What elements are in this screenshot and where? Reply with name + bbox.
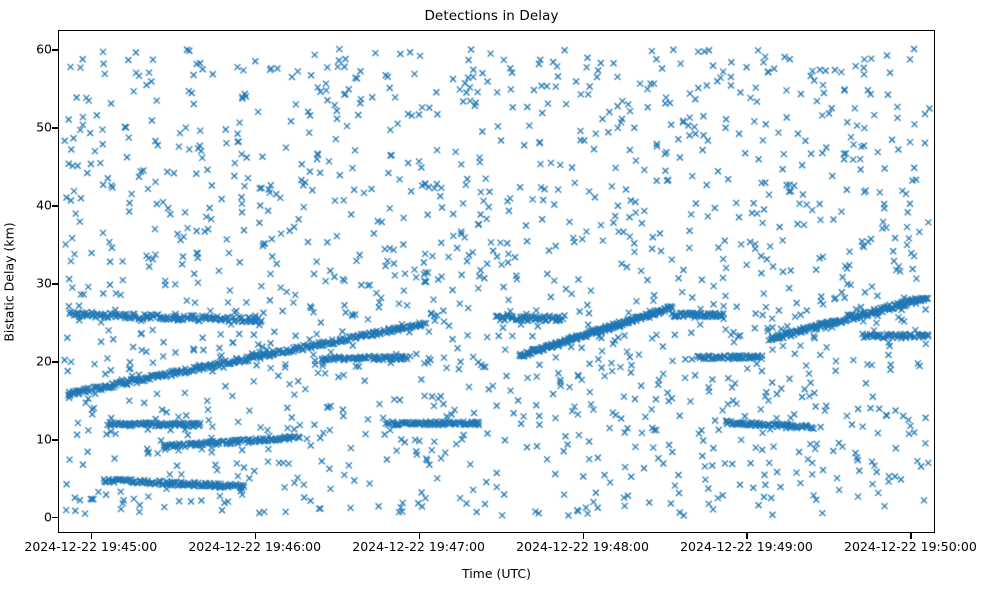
x-tick-mark [583, 533, 584, 539]
x-tick-label: 2024-12-22 19:49:00 [680, 539, 813, 554]
y-tick-label: 40 [8, 198, 52, 213]
x-tick-label: 2024-12-22 19:48:00 [516, 539, 649, 554]
page-title: Detections in Delay [0, 8, 983, 24]
x-tick-label: 2024-12-22 19:50:00 [844, 539, 977, 554]
x-tick-mark [910, 533, 911, 539]
plot-area [58, 30, 935, 533]
x-tick-mark [419, 533, 420, 539]
y-tick-label: 50 [8, 120, 52, 135]
y-axis-ticks: 0102030405060 [0, 0, 52, 590]
x-tick-mark [91, 533, 92, 539]
y-tick-label: 0 [8, 510, 52, 525]
x-tick-label: 2024-12-22 19:47:00 [352, 539, 485, 554]
figure-canvas: Detections in Delay Bistatic Delay (km) … [0, 0, 983, 590]
x-axis-label: Time (UTC) [58, 566, 935, 581]
x-tick-mark [255, 533, 256, 539]
x-tick-mark [746, 533, 747, 539]
y-tick-label: 30 [8, 276, 52, 291]
y-tick-label: 20 [8, 354, 52, 369]
y-tick-label: 60 [8, 42, 52, 57]
x-tick-label: 2024-12-22 19:45:00 [24, 539, 157, 554]
scatter-plot-canvas [59, 31, 935, 533]
x-tick-label: 2024-12-22 19:46:00 [188, 539, 321, 554]
y-tick-label: 10 [8, 432, 52, 447]
